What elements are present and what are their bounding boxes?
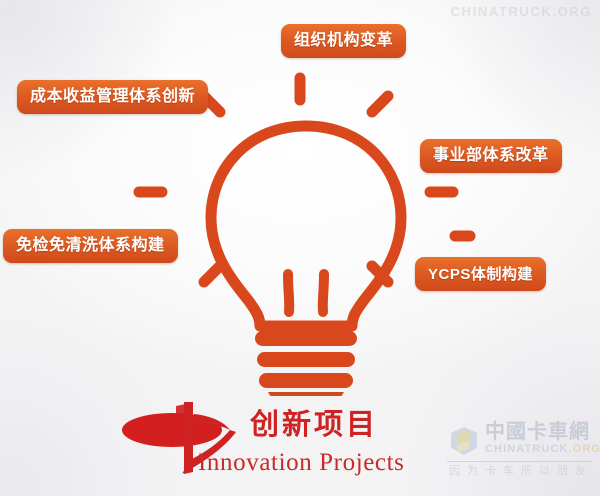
watermark-brand-english: CHINATRUCK.ORG [485,444,600,455]
logo-english-text: Innovation Projects [198,450,405,475]
label-ycps-system-construction-text: YCPS体制构建 [428,267,533,282]
lightbulb-icon [186,96,426,396]
logo-chinese-text: 创新项目 [250,410,378,439]
chinatruck-logo-icon [447,424,481,458]
watermark-chinatruck-brand: 中國卡車網 CHINATRUCK.ORG 因为卡车所以朋友 [447,418,595,486]
label-organizational-reform-text: 组织机构变革 [294,33,393,49]
label-inspection-free-cleaning-free-text: 免检免清洗体系构建 [16,238,165,254]
label-division-system-reform-text: 事业部体系改革 [433,148,549,164]
innovation-projects-logo: 创新项目 Innovation Projects [120,398,430,486]
label-organizational-reform[interactable]: 组织机构变革 [281,24,406,58]
watermark-brand-en-main: CHINATRUCK [485,443,569,455]
label-inspection-free-cleaning-free[interactable]: 免检免清洗体系构建 [3,229,178,263]
label-ycps-system-construction[interactable]: YCPS体制构建 [415,257,546,291]
watermark-divider [447,461,593,462]
infographic-canvas: 组织机构变革 成本收益管理体系创新 事业部体系改革 免检免清洗体系构建 YCPS… [0,0,600,496]
watermark-top-right: CHINATRUCK.ORG [451,4,592,19]
label-division-system-reform[interactable]: 事业部体系改革 [420,139,562,173]
watermark-tagline: 因为卡车所以朋友 [449,465,593,476]
label-cost-benefit-innovation[interactable]: 成本收益管理体系创新 [17,80,208,114]
watermark-brand-chinese: 中國卡車網 [485,421,590,441]
watermark-brand-en-suffix: .ORG [569,443,600,455]
label-cost-benefit-innovation-text: 成本收益管理体系创新 [30,89,195,105]
